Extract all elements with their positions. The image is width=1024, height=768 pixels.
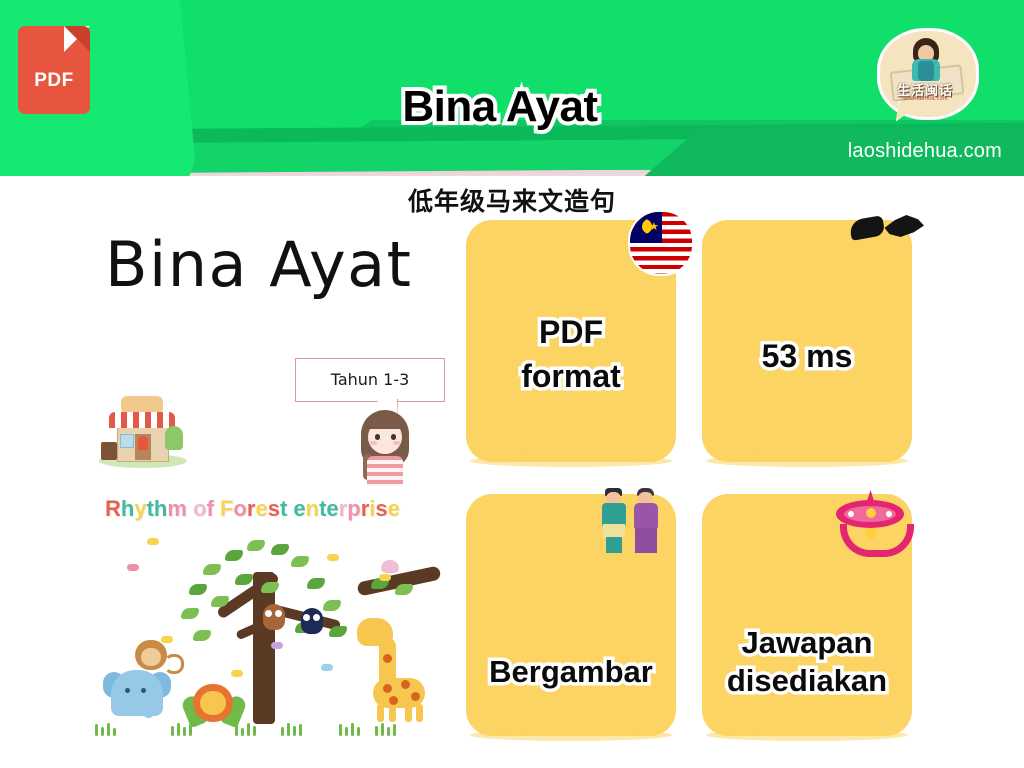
brand-logo[interactable]: 生活闽话 laoshidehua.com — [877, 28, 973, 124]
shop-signboard — [101, 442, 117, 460]
forest-leaf — [323, 600, 341, 611]
couple-man-sampin — [603, 524, 625, 538]
forest-banner-letter: s — [268, 496, 280, 521]
forest-leaf — [181, 608, 199, 619]
forest-owl-brown — [263, 604, 285, 630]
forest-banner-letter: h — [121, 496, 134, 521]
worksheet-heading: Bina Ayat — [105, 228, 412, 301]
forest-leaf — [203, 564, 221, 575]
shop-window — [120, 434, 134, 448]
forest-leaf — [307, 578, 325, 589]
owl-eye — [313, 614, 320, 621]
forest-banner-letter: R — [105, 496, 121, 521]
feature-card-jawapan[interactable]: Jawapan disediakan — [702, 494, 912, 736]
malaysia-flag-icon: ★ — [628, 210, 694, 276]
forest-banner-letter: f — [207, 496, 214, 521]
shop-tree — [165, 426, 183, 450]
forest-butterfly — [147, 538, 159, 545]
couple-woman-baju — [634, 503, 658, 531]
forest-butterfly — [327, 554, 339, 561]
feature-card-page-count[interactable]: 53 ms — [702, 220, 912, 462]
forest-banner-letter: s — [375, 496, 387, 521]
giraffe-spot — [383, 654, 392, 663]
forest-leaf — [247, 540, 265, 551]
forest-banner-letter: p — [347, 496, 360, 521]
forest-butterfly — [271, 642, 283, 649]
site-url[interactable]: laoshidehua.com — [848, 140, 1002, 163]
map-west-malaysia — [849, 215, 886, 241]
elephant-eye — [125, 688, 130, 693]
owl-eye — [265, 610, 272, 617]
page-title-line1: Bina Ayat — [150, 82, 850, 132]
monkey-tail — [164, 654, 184, 674]
forest-scene — [85, 530, 465, 738]
forest-banner-letter: e — [388, 496, 400, 521]
giraffe-spot — [401, 680, 410, 689]
elephant-trunk — [143, 692, 154, 718]
forest-banner-letter: o — [233, 496, 246, 521]
girl-bangs — [366, 413, 404, 429]
forest-banner-text: Rhythm of Forest enterprise — [105, 496, 485, 522]
forest-grass — [235, 722, 261, 736]
forest-banner-letter: n — [306, 496, 319, 521]
poster-canvas: PDF Bina Ayat Bahasa Melayu Tahap 1 laos… — [0, 0, 1024, 768]
couple-man-trousers — [606, 537, 622, 553]
forest-leaf — [225, 550, 243, 561]
girl-eye-right — [391, 434, 396, 440]
giraffe-spot — [411, 692, 420, 701]
logo-url-text: laoshidehua.com — [877, 96, 973, 102]
giraffe-leg — [405, 704, 412, 722]
couple-woman-skirt — [635, 528, 657, 553]
feature-card-label: PDF format — [468, 310, 674, 398]
giraffe-leg — [416, 704, 423, 722]
forest-butterfly — [161, 636, 173, 643]
forest-leaf — [291, 556, 309, 567]
left-preview-panel: Bina Ayat Tahun 1-3 Rhyth — [85, 218, 465, 738]
forest-leaf — [271, 544, 289, 555]
forest-butterfly — [321, 664, 333, 671]
forest-monkey — [131, 638, 171, 678]
forest-banner-letter: e — [293, 496, 305, 521]
feature-card-pdf-format[interactable]: ★ PDF format — [466, 220, 676, 462]
girl-cheek-right — [393, 441, 400, 445]
feature-card-bergambar[interactable]: Bergambar — [466, 494, 676, 736]
poster-header: PDF Bina Ayat Bahasa Melayu Tahap 1 laos… — [0, 0, 1024, 176]
monkey-face — [141, 648, 161, 666]
ornament-dot — [848, 511, 854, 517]
forest-leaf — [261, 582, 279, 593]
speech-bubble: Tahun 1-3 — [295, 358, 445, 402]
feature-card-grid: ★ PDF format 53 ms Bergamb — [466, 220, 912, 736]
forest-bird-icon — [381, 560, 399, 573]
forest-banner-letter: o — [193, 496, 206, 521]
speech-bubble-label: Tahun 1-3 — [296, 370, 444, 389]
forest-grass — [171, 722, 197, 736]
forest-butterfly — [231, 670, 243, 677]
feature-card-label: 53 ms — [704, 338, 910, 375]
shop-awning — [109, 412, 175, 428]
ornament-bowl-dot — [865, 528, 876, 539]
forest-grass — [375, 722, 401, 736]
page-title: Bina Ayat Bahasa Melayu Tahap 1 — [150, 32, 850, 176]
ornament-center-dot — [866, 508, 876, 518]
ornament-dot — [886, 511, 892, 517]
forest-butterfly — [127, 564, 139, 571]
flag-star: ★ — [649, 222, 659, 233]
forest-grass — [339, 722, 365, 736]
malay-couple-icon — [600, 488, 666, 558]
forest-leaf — [189, 584, 207, 595]
giraffe-head — [357, 618, 393, 646]
forest-owl-navy — [301, 608, 323, 634]
girl-illustration — [355, 408, 415, 488]
forest-leaf — [193, 630, 211, 641]
owl-eye — [303, 614, 310, 621]
pdf-file-icon: PDF — [18, 26, 90, 114]
forest-banner-letter: F — [220, 496, 233, 521]
forest-banner-letter: r — [339, 496, 348, 521]
forest-banner-letter: y — [134, 496, 146, 521]
giraffe-leg — [377, 704, 384, 722]
forest-banner-letter: t — [147, 496, 154, 521]
feature-card-label: Bergambar — [468, 654, 674, 690]
forest-butterfly — [379, 574, 391, 581]
pdf-icon-label: PDF — [18, 70, 90, 92]
feature-card-label: Jawapan disediakan — [704, 624, 910, 700]
malay-ornament-icon — [834, 490, 906, 552]
map-east-malaysia — [882, 214, 924, 238]
ornament-bowl — [840, 524, 914, 557]
forest-banner-letter: m — [167, 496, 187, 521]
giraffe-spot — [383, 684, 392, 693]
forest-leaf — [235, 574, 253, 585]
girl-cheek-left — [370, 441, 377, 445]
forest-grass — [281, 722, 307, 736]
logo-girl-vest — [918, 61, 934, 81]
shop-child — [138, 436, 148, 450]
forest-leaf — [329, 626, 347, 637]
forest-banner-letter: e — [326, 496, 338, 521]
giraffe-spot — [389, 696, 398, 705]
girl-eye-left — [375, 434, 380, 440]
lion-face — [200, 691, 226, 715]
forest-banner-letter: h — [154, 496, 167, 521]
forest-banner-letter: r — [361, 496, 370, 521]
forest-banner-letter: e — [255, 496, 267, 521]
elephant-eye — [141, 688, 146, 693]
forest-giraffe — [357, 618, 429, 722]
shop-illustration — [97, 390, 189, 468]
owl-eye — [275, 610, 282, 617]
forest-grass — [95, 722, 121, 736]
forest-leaf — [395, 584, 413, 595]
girl-striped-shirt — [367, 456, 403, 486]
giraffe-leg — [389, 704, 396, 722]
malaysia-map-icon — [848, 212, 926, 252]
